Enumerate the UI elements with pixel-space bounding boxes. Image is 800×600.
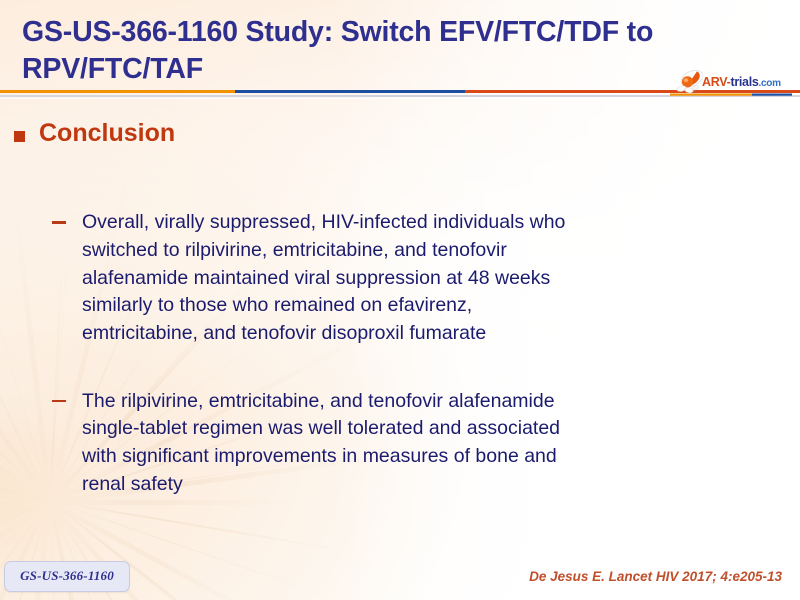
list-item: Overall, virally suppressed, HIV-infecte… <box>52 209 800 347</box>
slide-body: Conclusion Overall, virally suppressed, … <box>0 118 800 538</box>
citation-reference: De Jesus E. Lancet HIV 2017; 4:e205-13 <box>529 569 782 584</box>
list-item-text: Overall, virally suppressed, HIV-infecte… <box>82 209 587 347</box>
bullet-list: Overall, virally suppressed, HIV-infecte… <box>0 209 800 498</box>
divider-segment-blue <box>235 90 465 93</box>
section-heading-label: Conclusion <box>39 118 175 149</box>
page-title: GS-US-366-1160 Study: Switch EFV/FTC/TDF… <box>22 14 682 88</box>
divider-segment-orange <box>0 90 235 93</box>
square-bullet-icon <box>14 131 25 142</box>
logo-wordmark: ARV-trials.com <box>702 75 781 89</box>
section-heading-conclusion: Conclusion <box>0 118 800 149</box>
dash-bullet-icon <box>52 400 66 403</box>
study-id-badge: GS-US-366-1160 <box>4 561 130 592</box>
list-item: The rilpivirine, emtricitabine, and teno… <box>52 388 800 499</box>
title-block: GS-US-366-1160 Study: Switch EFV/FTC/TDF… <box>22 14 682 88</box>
dash-bullet-icon <box>52 221 66 224</box>
arv-trials-logo[interactable]: ARV-trials.com <box>670 70 792 104</box>
logo-text-arv: ARV- <box>702 75 730 89</box>
logo-text-com: .com <box>759 78 781 89</box>
slide-canvas: GS-US-366-1160 Study: Switch EFV/FTC/TDF… <box>0 0 800 600</box>
logo-text-trials: trials <box>730 75 758 89</box>
study-id-badge-label: GS-US-366-1160 <box>20 568 114 583</box>
list-item-text: The rilpivirine, emtricitabine, and teno… <box>82 388 587 499</box>
